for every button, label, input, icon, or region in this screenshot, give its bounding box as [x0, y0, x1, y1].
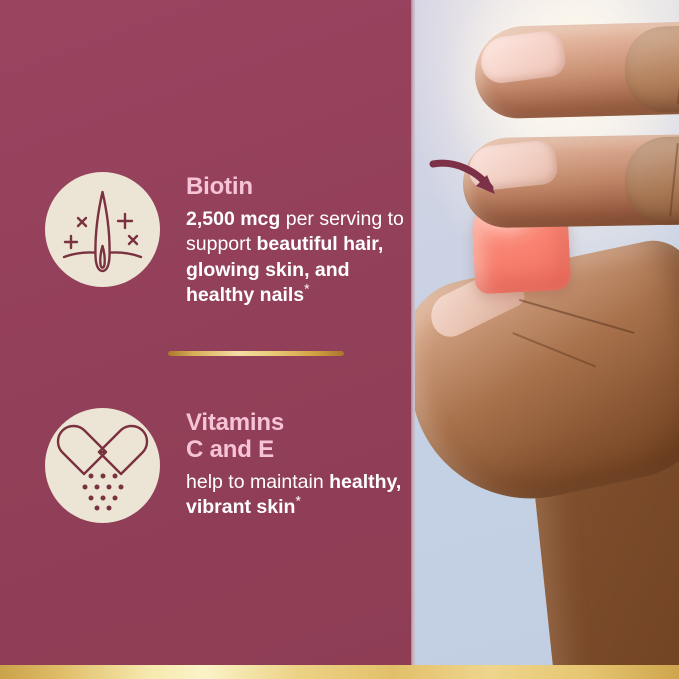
benefits-panel: Biotin 2,500 mcg per serving to support …: [0, 0, 411, 665]
footnote-marker: *: [295, 493, 300, 509]
benefit-body: 2,500 mcg per serving to support beautif…: [186, 207, 411, 308]
product-benefit-graphic: Biotin 2,500 mcg per serving to support …: [0, 0, 679, 679]
benefit-heading-line2: C and E: [186, 436, 274, 463]
thumb-crease: [512, 332, 596, 368]
benefit-text-biotin: Biotin 2,500 mcg per serving to support …: [186, 172, 411, 308]
benefit-body-part-0: help to maintain: [186, 471, 329, 493]
gummy-in-fingers-photo: [415, 0, 679, 665]
curved-arrow-annotation: [429, 155, 509, 217]
benefit-body: help to maintain healthy, vibrant skin*: [186, 470, 411, 521]
benefit-body-part-0: 2,500 mcg: [186, 208, 286, 230]
index-finger: [474, 21, 679, 120]
benefit-block-vitamins-c-e: VitaminsC and E help to maintain healthy…: [45, 408, 411, 523]
hair-follicle-icon: [45, 172, 160, 287]
thumb-crease: [519, 299, 635, 334]
benefit-text-vitamins-c-e: VitaminsC and E help to maintain healthy…: [186, 408, 411, 520]
benefit-block-biotin: Biotin 2,500 mcg per serving to support …: [45, 172, 411, 308]
benefit-heading: VitaminsC and E: [186, 410, 411, 464]
footnote-marker: *: [304, 280, 309, 296]
open-capsule-icon: [45, 408, 160, 523]
benefit-heading-line1: Vitamins: [186, 409, 284, 436]
gold-divider: [168, 351, 344, 356]
fingernail: [478, 29, 567, 86]
finger-knuckle: [624, 25, 679, 113]
gold-footer-bar: [0, 665, 679, 679]
benefit-heading: Biotin: [186, 174, 411, 201]
